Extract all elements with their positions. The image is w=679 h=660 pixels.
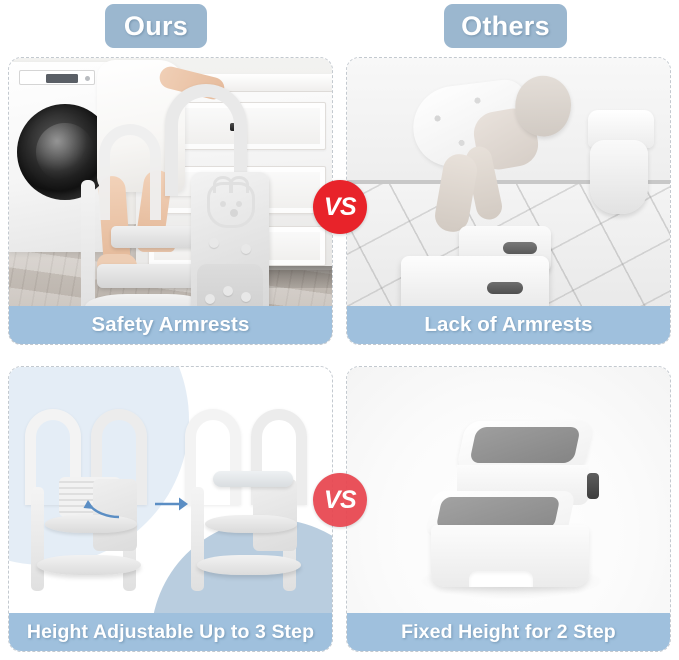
stool-bolt-icon — [223, 286, 233, 296]
vs-badge-top: VS — [313, 180, 367, 234]
armrest-rail-back — [99, 124, 161, 220]
header-row: Ours Others — [0, 0, 679, 56]
caption-fixed-height: Fixed Height for 2 Step — [347, 613, 670, 651]
upper-step-nonslip-pad — [469, 427, 581, 463]
stool-step-lower — [197, 555, 301, 575]
bear-nose-icon — [230, 209, 238, 217]
stool-bolt-icon — [205, 294, 215, 304]
stool-render-high-position — [185, 409, 321, 599]
stool-bolt-icon — [241, 244, 251, 254]
panel-top-left: Safety Armrests — [8, 57, 333, 345]
washing-machine-control-panel — [19, 70, 95, 85]
transition-arrow-icon — [155, 495, 189, 513]
toilet-bowl — [590, 140, 648, 214]
ours-badge: Ours — [105, 4, 207, 48]
adjust-up-arrow-icon — [83, 497, 121, 519]
photo-safety-armrests — [9, 58, 332, 344]
stool-step-upper — [111, 226, 203, 248]
stool-step-upper-raised — [213, 471, 293, 487]
photo-lack-of-armrests — [347, 58, 670, 344]
panel-bottom-right: Fixed Height for 2 Step — [346, 366, 671, 652]
photo-height-adjustable — [9, 367, 332, 651]
fixed-two-step-stool — [425, 421, 601, 589]
caption-safety-armrests: Safety Armrests — [9, 306, 332, 344]
stool-render-low-position — [25, 409, 161, 599]
stool-step-middle — [205, 515, 297, 533]
panel-bottom-left: Height Adjustable Up to 3 Step — [8, 366, 333, 652]
bear-eye-icon — [220, 201, 226, 207]
stool-body — [431, 525, 589, 587]
others-badge: Others — [444, 4, 567, 48]
stool-step-lower — [37, 555, 141, 575]
stool-bolt-icon — [241, 292, 251, 302]
stool-post-left — [31, 487, 44, 591]
caption-height-adjustable: Height Adjustable Up to 3 Step — [9, 613, 332, 651]
photo-fixed-height — [347, 367, 670, 651]
vs-badge-bottom: VS — [313, 473, 367, 527]
stool-bolt-icon — [209, 238, 219, 248]
bear-eye-icon — [236, 201, 242, 207]
step-stool-with-armrests — [79, 84, 269, 324]
panel-top-right: Lack of Armrests — [346, 57, 671, 345]
comparison-infographic: Ours Others — [0, 0, 679, 660]
stool-post-left — [191, 487, 204, 591]
carry-handle-icon — [587, 473, 599, 499]
bear-face-icon — [207, 182, 255, 228]
caption-lack-of-armrests: Lack of Armrests — [347, 306, 670, 344]
